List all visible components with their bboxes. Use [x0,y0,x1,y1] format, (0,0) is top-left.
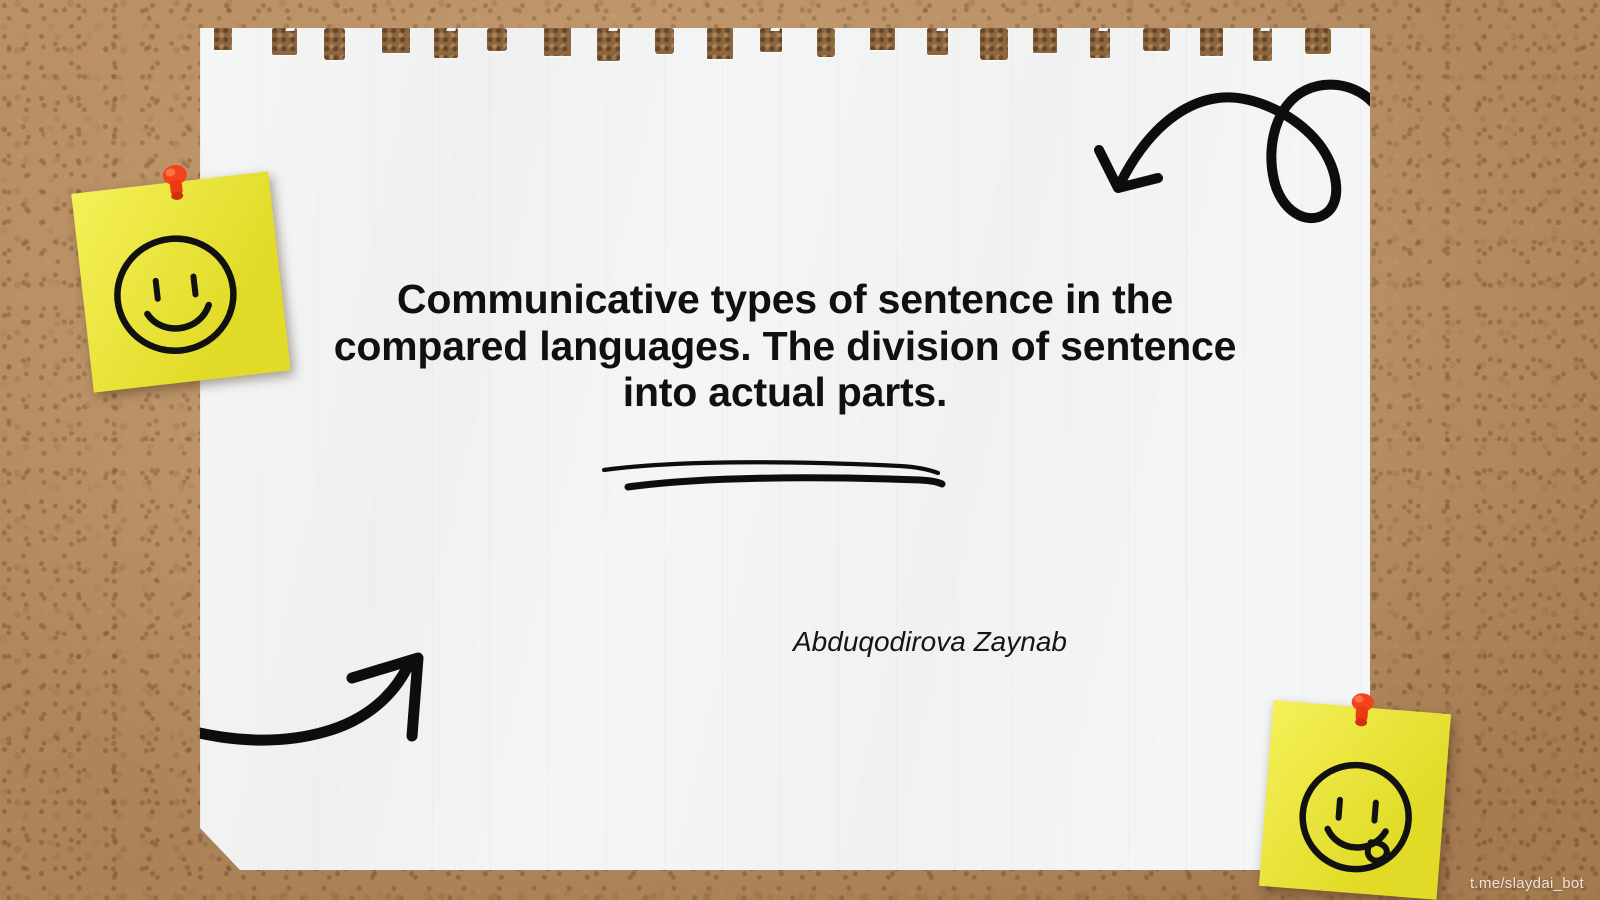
pushpin-icon [157,162,195,206]
punch-hole [760,28,782,52]
punch-hole [1090,28,1110,58]
hand-drawn-underline [600,446,960,496]
punch-hole [1253,28,1272,61]
curly-loop-arrow-icon [1090,68,1390,258]
author-name: Abduqodirova Zaynab [530,626,1330,658]
punch-hole [927,28,948,55]
punch-hole [544,28,571,56]
punch-hole [655,28,674,54]
punch-hole [817,28,835,57]
slide-canvas: Communicative types of sentence in the c… [0,0,1600,900]
smiley-tongue-out-face-icon [1288,750,1423,882]
sticky-note-tongue[interactable] [1259,700,1451,899]
punch-hole [382,28,410,53]
page-title: Communicative types of sentence in the c… [330,276,1240,416]
punch-hole [272,28,297,55]
punch-hole [1305,28,1331,54]
punch-hole [214,28,232,50]
punch-hole [980,28,1008,60]
pushpin-icon [1343,690,1380,733]
notebook-paper: Communicative types of sentence in the c… [200,28,1370,870]
sticky-note-smiley[interactable] [71,171,290,392]
punch-hole [324,28,345,60]
punch-hole [487,28,507,51]
punch-hole [1033,28,1057,53]
punch-hole [870,28,895,50]
watermark-label: t.me/slaydai_bot [1470,875,1584,892]
punch-hole [707,28,733,59]
punch-hole [597,28,620,61]
smiley-happy-face-icon [98,219,252,366]
punch-hole [434,28,458,58]
underline-icon [600,446,960,496]
punch-hole [1143,28,1170,51]
punch-hole [1200,28,1223,56]
